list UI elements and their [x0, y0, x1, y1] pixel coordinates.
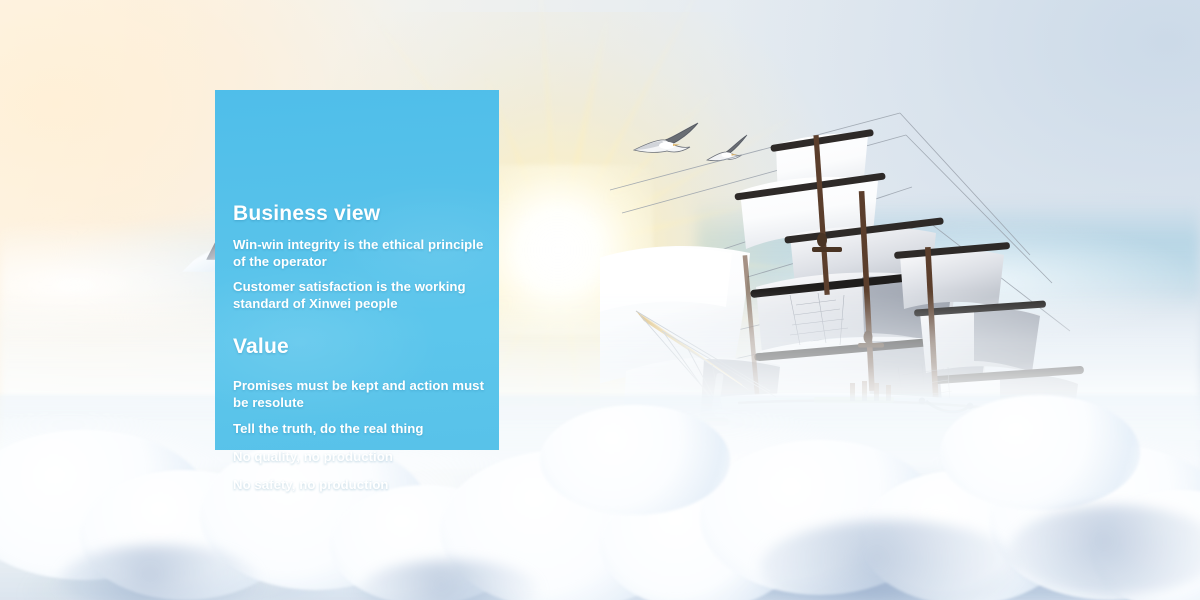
value-item-4: No safety, no production: [233, 477, 489, 494]
business-view-item-2: Customer satisfaction is the working sta…: [233, 279, 489, 312]
business-view-heading: Business view: [233, 202, 380, 226]
business-view-item-1: Win-win integrity is the ethical princip…: [233, 237, 489, 270]
hero-banner: Business view Win-win integrity is the e…: [0, 0, 1200, 600]
culture-info-panel: Business view Win-win integrity is the e…: [215, 90, 499, 450]
value-item-1: Promises must be kept and action must be…: [233, 378, 489, 411]
value-heading: Value: [233, 335, 289, 359]
value-item-2: Tell the truth, do the real thing: [233, 421, 489, 438]
value-item-3: No quality, no production: [233, 449, 489, 466]
